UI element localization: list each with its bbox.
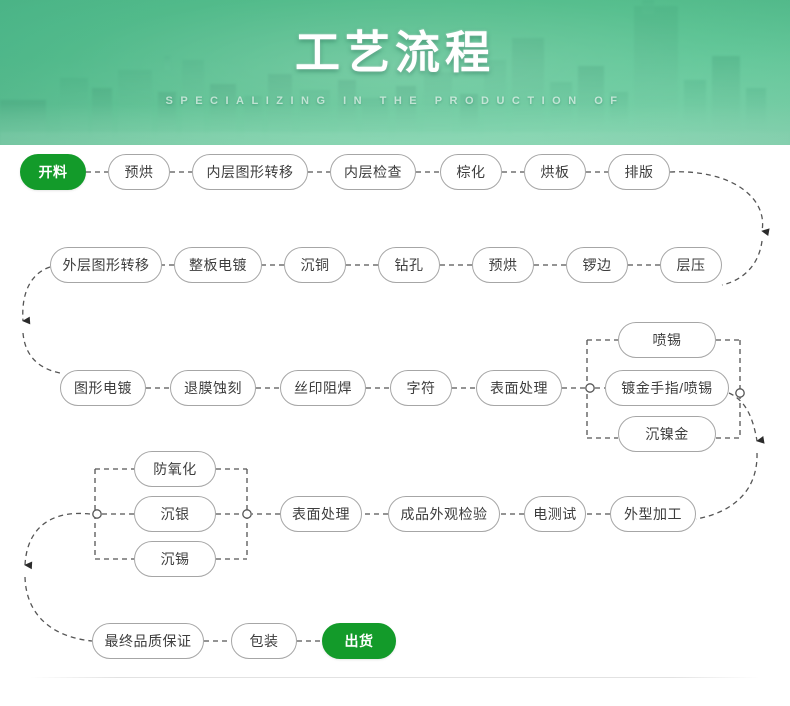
page-subtitle: SPECIALIZING IN THE PRODUCTION OF xyxy=(0,93,790,109)
flow-node-cengya[interactable]: 层压 xyxy=(660,247,722,283)
uturn-left-row2-row3-tail xyxy=(23,333,60,373)
flow-node-siyin-zuhan[interactable]: 丝印阻焊 xyxy=(280,370,366,406)
flow-node-luobian[interactable]: 锣边 xyxy=(566,247,628,283)
uturn-left-row4-row5-tail xyxy=(25,577,92,641)
flow-node-paiban[interactable]: 排版 xyxy=(608,154,670,190)
page-banner: 工艺流程 SPECIALIZING IN THE PRODUCTION OF xyxy=(0,0,790,145)
flow-node-chennie-jin[interactable]: 沉镍金 xyxy=(618,416,716,452)
flow-node-chenxi[interactable]: 沉锡 xyxy=(134,541,216,577)
flow-node-yuhong-2[interactable]: 预烘 xyxy=(472,247,534,283)
flow-node-chenyin[interactable]: 沉银 xyxy=(134,496,216,532)
flow-node-yuhong-1[interactable]: 预烘 xyxy=(108,154,170,190)
junction-left-split xyxy=(93,510,101,518)
junction-right-merge xyxy=(736,389,744,397)
flow-node-zifu[interactable]: 字符 xyxy=(390,370,452,406)
flow-node-chuhuo[interactable]: 出货 xyxy=(322,623,396,659)
flow-node-biaomian-chuli-1[interactable]: 表面处理 xyxy=(476,370,562,406)
flow-node-dujin-shouzhi-penxi[interactable]: 镀金手指/喷锡 xyxy=(605,370,729,406)
process-flow-diagram: 开料 预烘 内层图形转移 内层检查 棕化 烘板 排版 外层图形转移 整板电镀 沉… xyxy=(0,145,790,706)
flow-node-chentong[interactable]: 沉铜 xyxy=(284,247,346,283)
flow-node-zuizhong-pinzhi-baozheng[interactable]: 最终品质保证 xyxy=(92,623,204,659)
flow-node-kailiao[interactable]: 开料 xyxy=(20,154,86,190)
uturn-left-row4-row5 xyxy=(25,513,90,565)
flow-node-biaomian-chuli-2[interactable]: 表面处理 xyxy=(280,496,362,532)
uturn-right-row1-row2 xyxy=(670,172,763,231)
uturn-left-row2-row3 xyxy=(23,267,50,321)
flow-node-penxi[interactable]: 喷锡 xyxy=(618,322,716,358)
junction-right-split xyxy=(586,384,594,392)
flow-node-neiceng-tuxing[interactable]: 内层图形转移 xyxy=(192,154,308,190)
flow-node-fangyanghua[interactable]: 防氧化 xyxy=(134,451,216,487)
flow-node-neiceng-jiancha[interactable]: 内层检查 xyxy=(330,154,416,190)
page-title: 工艺流程 xyxy=(0,25,790,81)
junction-left-merge xyxy=(243,510,251,518)
flow-node-dianceshi[interactable]: 电测试 xyxy=(524,496,586,532)
flow-node-waixing-jiagong[interactable]: 外型加工 xyxy=(610,496,696,532)
flow-node-zonghua[interactable]: 棕化 xyxy=(440,154,502,190)
uturn-right-row3-row4-tail xyxy=(696,453,757,519)
flow-node-waiceng-tuxing[interactable]: 外层图形转移 xyxy=(50,247,162,283)
flow-node-zhengban-diandu[interactable]: 整板电镀 xyxy=(174,247,262,283)
flow-node-chengpin-waiguan-jianyan[interactable]: 成品外观检验 xyxy=(388,496,500,532)
flow-node-baozhuang[interactable]: 包装 xyxy=(231,623,297,659)
bottom-divider xyxy=(30,677,760,678)
flow-node-zuankong[interactable]: 钻孔 xyxy=(378,247,440,283)
flow-node-tuxing-diandu[interactable]: 图形电镀 xyxy=(60,370,146,406)
flow-node-hongban[interactable]: 烘板 xyxy=(524,154,586,190)
uturn-right-row1-row2-tail xyxy=(722,241,762,285)
uturn-right-row3-row4 xyxy=(729,393,757,441)
flow-node-tuimo-shike[interactable]: 退膜蚀刻 xyxy=(170,370,256,406)
